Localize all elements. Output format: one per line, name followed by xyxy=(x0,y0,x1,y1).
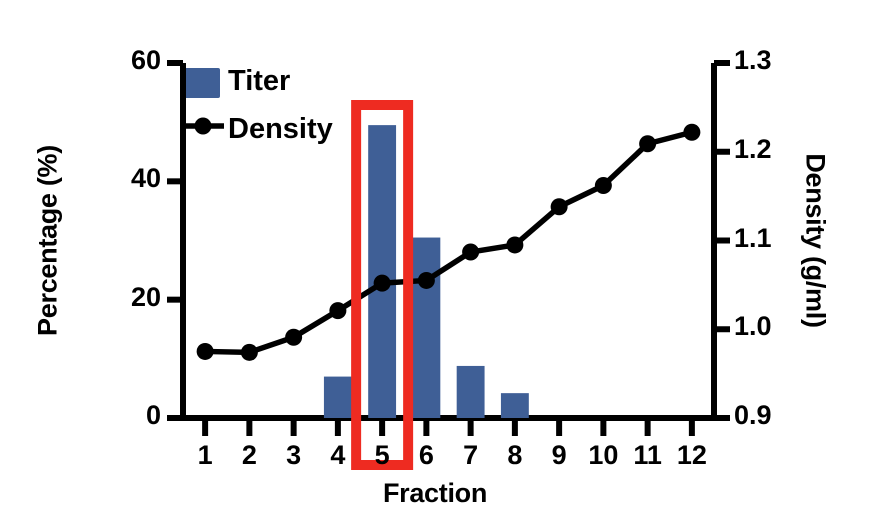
y-axis-left-tick-label: 60 xyxy=(81,45,161,76)
data-point xyxy=(241,344,258,361)
legend-density-marker xyxy=(183,118,224,135)
data-point xyxy=(551,198,568,215)
line-markers-density xyxy=(197,124,701,361)
axis-lines xyxy=(169,63,728,418)
x-axis-tick-label: 12 xyxy=(662,440,722,471)
y-axis-right-tick-label: 1.3 xyxy=(734,45,814,76)
data-point xyxy=(639,135,656,152)
y-axis-right-tick-label: 1.0 xyxy=(734,311,814,342)
data-point xyxy=(418,272,435,289)
data-point xyxy=(285,329,302,346)
bar xyxy=(501,393,529,418)
tick-marks xyxy=(167,63,730,436)
bar xyxy=(368,125,396,418)
y-axis-left-tick-label: 0 xyxy=(81,400,161,431)
y-axis-left-tick-label: 40 xyxy=(81,163,161,194)
bar xyxy=(324,377,352,418)
y-axis-right-tick-label: 0.9 xyxy=(734,400,814,431)
data-point xyxy=(506,236,523,253)
bar xyxy=(412,238,440,418)
line-series-density xyxy=(205,132,692,352)
y-axis-left-tick-label: 20 xyxy=(81,282,161,313)
data-point xyxy=(374,275,391,292)
data-point xyxy=(683,124,700,141)
bar xyxy=(457,366,485,418)
data-point xyxy=(329,302,346,319)
data-point xyxy=(197,343,214,360)
y-axis-right-tick-label: 1.1 xyxy=(734,223,814,254)
data-point xyxy=(595,177,612,194)
data-point xyxy=(462,244,479,261)
chart-figure: Percentage (%) Density (g/ml) Fraction T… xyxy=(0,0,870,522)
y-axis-right-tick-label: 1.2 xyxy=(734,134,814,165)
